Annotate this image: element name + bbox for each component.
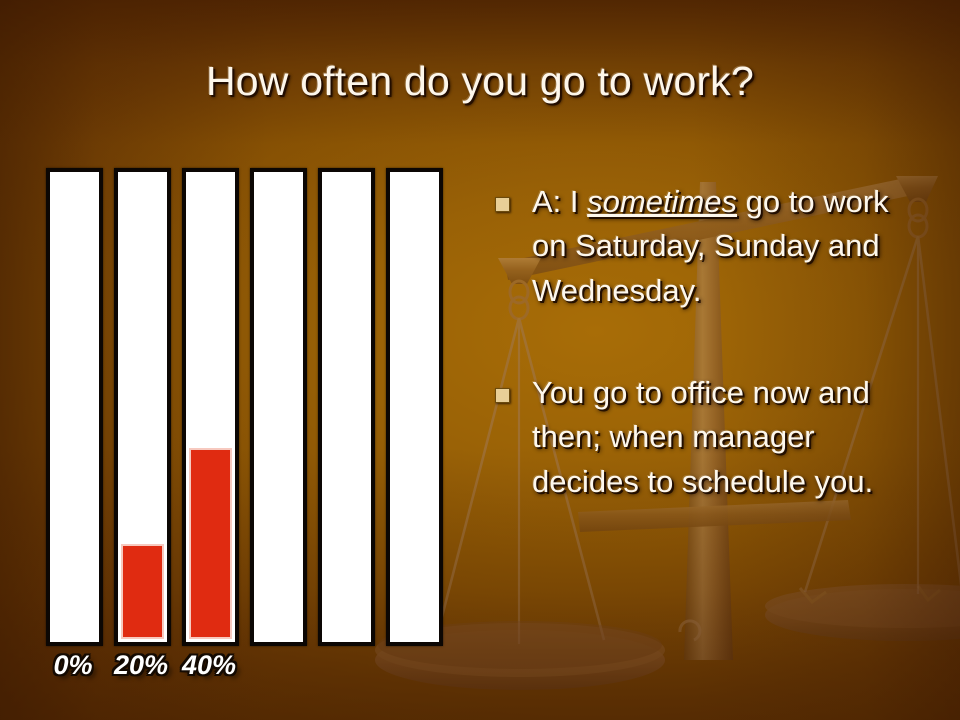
bar-slot xyxy=(114,168,171,646)
list-item: You go to office now and then; when mana… xyxy=(490,371,920,504)
list-item: A: I sometimes go to work on Saturday, S… xyxy=(490,180,920,313)
square-bullet-icon xyxy=(495,388,510,403)
slide-canvas: How often do you go to work? 0% 20% 40% xyxy=(0,0,960,720)
bullet-text-before: A: I xyxy=(532,184,587,219)
bar-slot xyxy=(386,168,443,646)
bullet-text-emphasis: sometimes xyxy=(587,184,737,219)
bar-slot xyxy=(318,168,375,646)
slide-title: How often do you go to work? xyxy=(0,58,960,105)
bullet-text: A: I sometimes go to work on Saturday, S… xyxy=(532,180,920,313)
square-bullet-icon xyxy=(495,197,510,212)
bar-fill xyxy=(121,544,164,639)
bullet-list: A: I sometimes go to work on Saturday, S… xyxy=(490,180,920,546)
bullet-text: You go to office now and then; when mana… xyxy=(532,371,920,504)
bullet-text-before: You go to office now and then; when mana… xyxy=(532,375,873,499)
bar-fill xyxy=(189,448,232,639)
axis-label-20: 20% xyxy=(108,650,174,681)
bar-slot xyxy=(46,168,103,646)
axis-label-40: 40% xyxy=(176,650,242,681)
bar-slot xyxy=(250,168,307,646)
axis-label-0: 0% xyxy=(40,650,106,681)
bar-chart xyxy=(46,168,458,646)
chart-axis-labels: 0% 20% 40% xyxy=(46,650,458,694)
bar-slot xyxy=(182,168,239,646)
